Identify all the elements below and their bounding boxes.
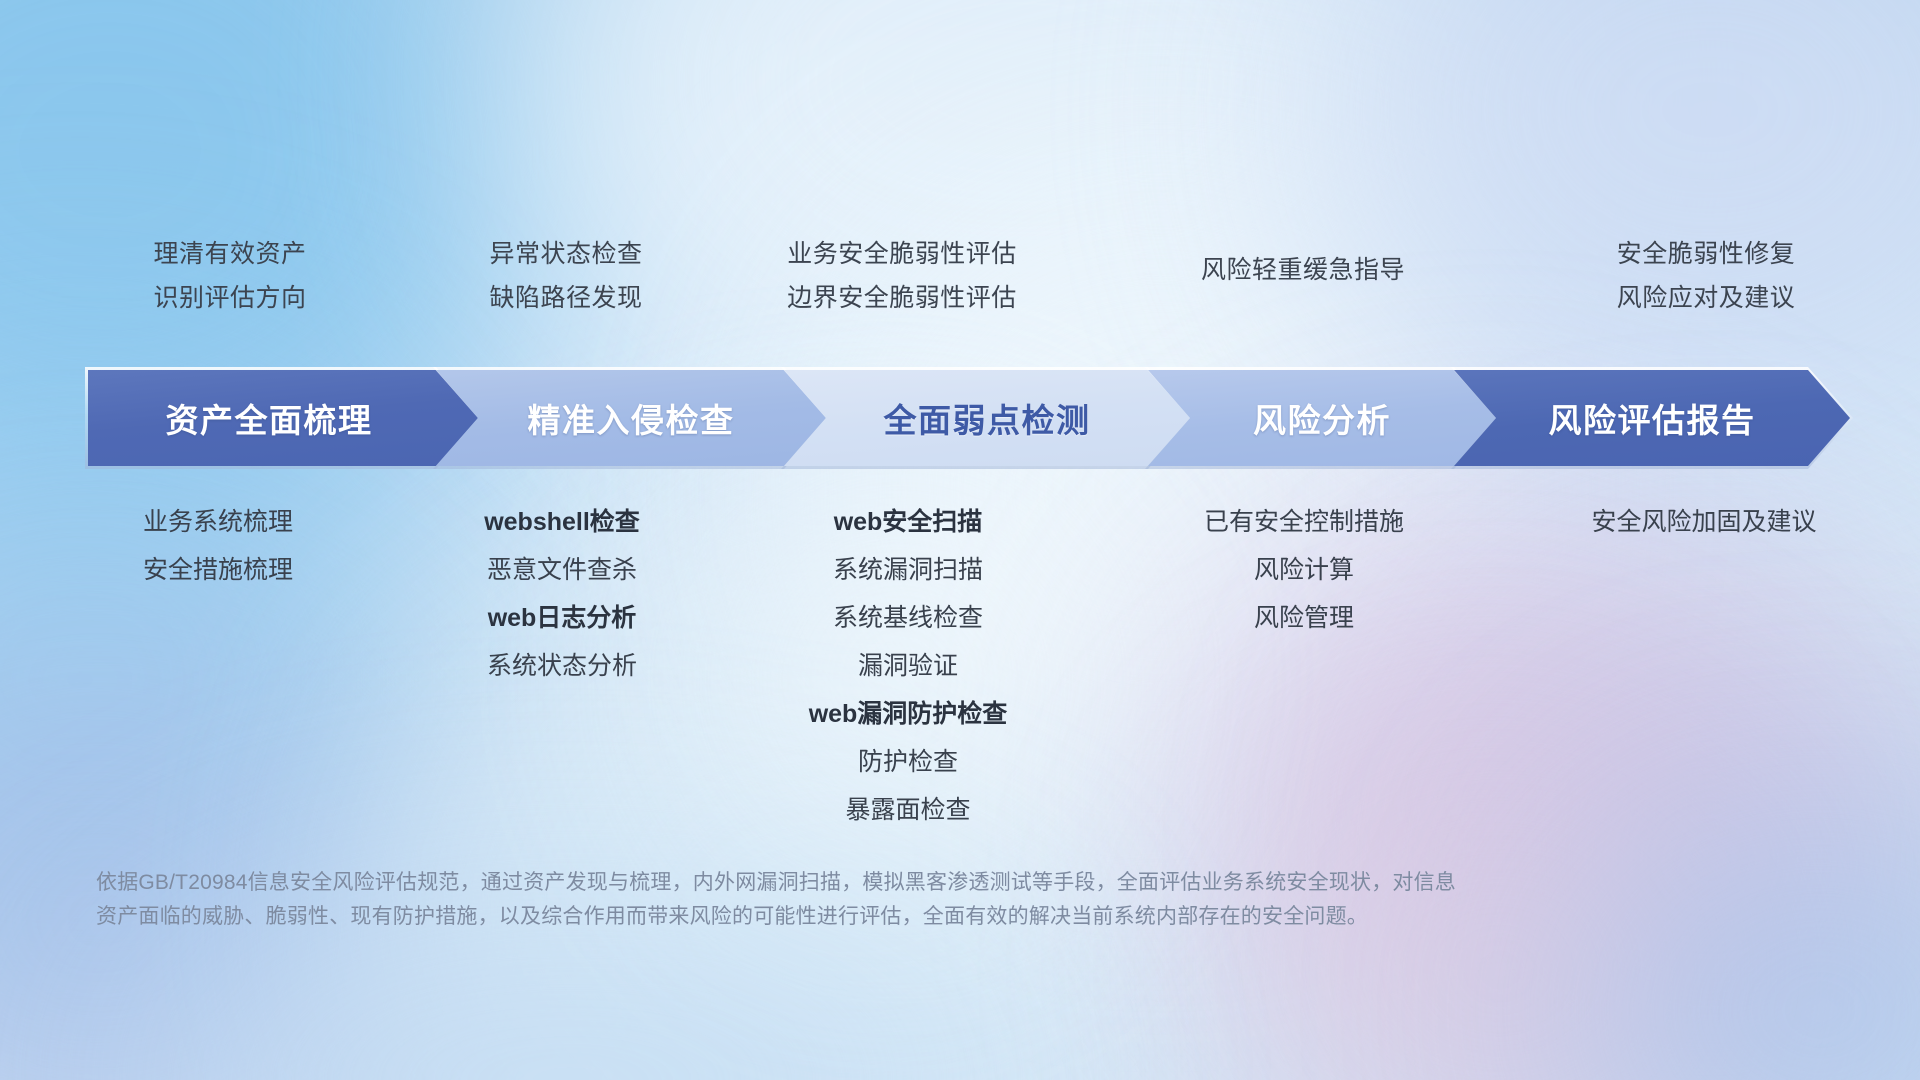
process-arrow-stage-3[interactable]: 全面弱点检测 bbox=[784, 370, 1190, 466]
details-stage-5: 安全风险加固及建议 bbox=[1504, 498, 1904, 546]
diagram-content: 理清有效资产 识别评估方向 异常状态检查 缺陷路径发现 业务安全脆弱性评估 边界… bbox=[0, 0, 1920, 1080]
top-caption-line: 理清有效资产 bbox=[50, 232, 410, 276]
detail-row: 业务系统梳理 安全措施梳理 webshell检查 恶意文件查杀 web日志分析 … bbox=[0, 498, 1920, 828]
process-arrow-stage-2[interactable]: 精准入侵检查 bbox=[436, 370, 826, 466]
arrow-label-stage-3: 全面弱点检测 bbox=[784, 394, 1190, 442]
top-caption-line: 业务安全脆弱性评估 bbox=[672, 232, 1132, 276]
detail-item: 安全风险加固及建议 bbox=[1504, 498, 1904, 546]
details-stage-2: webshell检查 恶意文件查杀 web日志分析 系统状态分析 bbox=[392, 498, 732, 690]
process-arrow-stage-4[interactable]: 风险分析 bbox=[1148, 370, 1496, 466]
detail-item: 安全措施梳理 bbox=[50, 546, 386, 594]
top-captions-stage-3: 业务安全脆弱性评估 边界安全脆弱性评估 bbox=[672, 232, 1132, 320]
top-caption-row: 理清有效资产 识别评估方向 异常状态检查 缺陷路径发现 业务安全脆弱性评估 边界… bbox=[0, 232, 1920, 352]
top-caption-line: 识别评估方向 bbox=[50, 276, 410, 320]
arrow-label-stage-1: 资产全面梳理 bbox=[88, 394, 478, 442]
details-stage-3: web安全扫描 系统漏洞扫描 系统基线检查 漏洞验证 web漏洞防护检查 防护检… bbox=[688, 498, 1128, 834]
detail-item: 漏洞验证 bbox=[688, 642, 1128, 690]
detail-item: 防护检查 bbox=[688, 738, 1128, 786]
detail-item: 风险管理 bbox=[1094, 594, 1514, 642]
footer-line-2: 资产面临的威胁、脆弱性、现有防护措施，以及综合作用而带来风险的可能性进行评估，全… bbox=[96, 900, 1696, 934]
detail-item: 系统状态分析 bbox=[392, 642, 732, 690]
arrow-label-stage-5: 风险评估报告 bbox=[1454, 394, 1850, 442]
process-arrow-stage-5[interactable]: 风险评估报告 bbox=[1454, 370, 1850, 466]
top-caption-line: 安全脆弱性修复 bbox=[1506, 232, 1906, 276]
arrow-label-stage-4: 风险分析 bbox=[1148, 394, 1496, 442]
detail-item: web日志分析 bbox=[392, 594, 732, 642]
detail-item: 风险计算 bbox=[1094, 546, 1514, 594]
detail-item: 恶意文件查杀 bbox=[392, 546, 732, 594]
top-caption-line: 风险轻重缓急指导 bbox=[1093, 248, 1513, 292]
top-caption-line: 边界安全脆弱性评估 bbox=[672, 276, 1132, 320]
detail-item: 暴露面检查 bbox=[688, 786, 1128, 834]
detail-item: webshell检查 bbox=[392, 498, 732, 546]
detail-item: 系统基线检查 bbox=[688, 594, 1128, 642]
detail-item: web安全扫描 bbox=[688, 498, 1128, 546]
footer-description: 依据GB/T20984信息安全风险评估规范，通过资产发现与梳理，内外网漏洞扫描，… bbox=[96, 866, 1696, 934]
detail-item: web漏洞防护检查 bbox=[688, 690, 1128, 738]
arrow-label-stage-2: 精准入侵检查 bbox=[436, 394, 826, 442]
top-caption-line: 风险应对及建议 bbox=[1506, 276, 1906, 320]
details-stage-4: 已有安全控制措施 风险计算 风险管理 bbox=[1094, 498, 1514, 642]
details-stage-1: 业务系统梳理 安全措施梳理 bbox=[50, 498, 386, 594]
detail-item: 业务系统梳理 bbox=[50, 498, 386, 546]
top-captions-stage-4: 风险轻重缓急指导 bbox=[1093, 248, 1513, 292]
slide-canvas: 理清有效资产 识别评估方向 异常状态检查 缺陷路径发现 业务安全脆弱性评估 边界… bbox=[0, 0, 1920, 1080]
footer-line-1: 依据GB/T20984信息安全风险评估规范，通过资产发现与梳理，内外网漏洞扫描，… bbox=[96, 866, 1696, 900]
detail-item: 已有安全控制措施 bbox=[1094, 498, 1514, 546]
top-captions-stage-5: 安全脆弱性修复 风险应对及建议 bbox=[1506, 232, 1906, 320]
process-arrow-band: 资产全面梳理 精准入侵检查 全面弱点检测 风险分析 风险评估报告 bbox=[88, 370, 1850, 466]
process-arrow-stage-1[interactable]: 资产全面梳理 bbox=[88, 370, 478, 466]
top-captions-stage-1: 理清有效资产 识别评估方向 bbox=[50, 232, 410, 320]
detail-item: 系统漏洞扫描 bbox=[688, 546, 1128, 594]
